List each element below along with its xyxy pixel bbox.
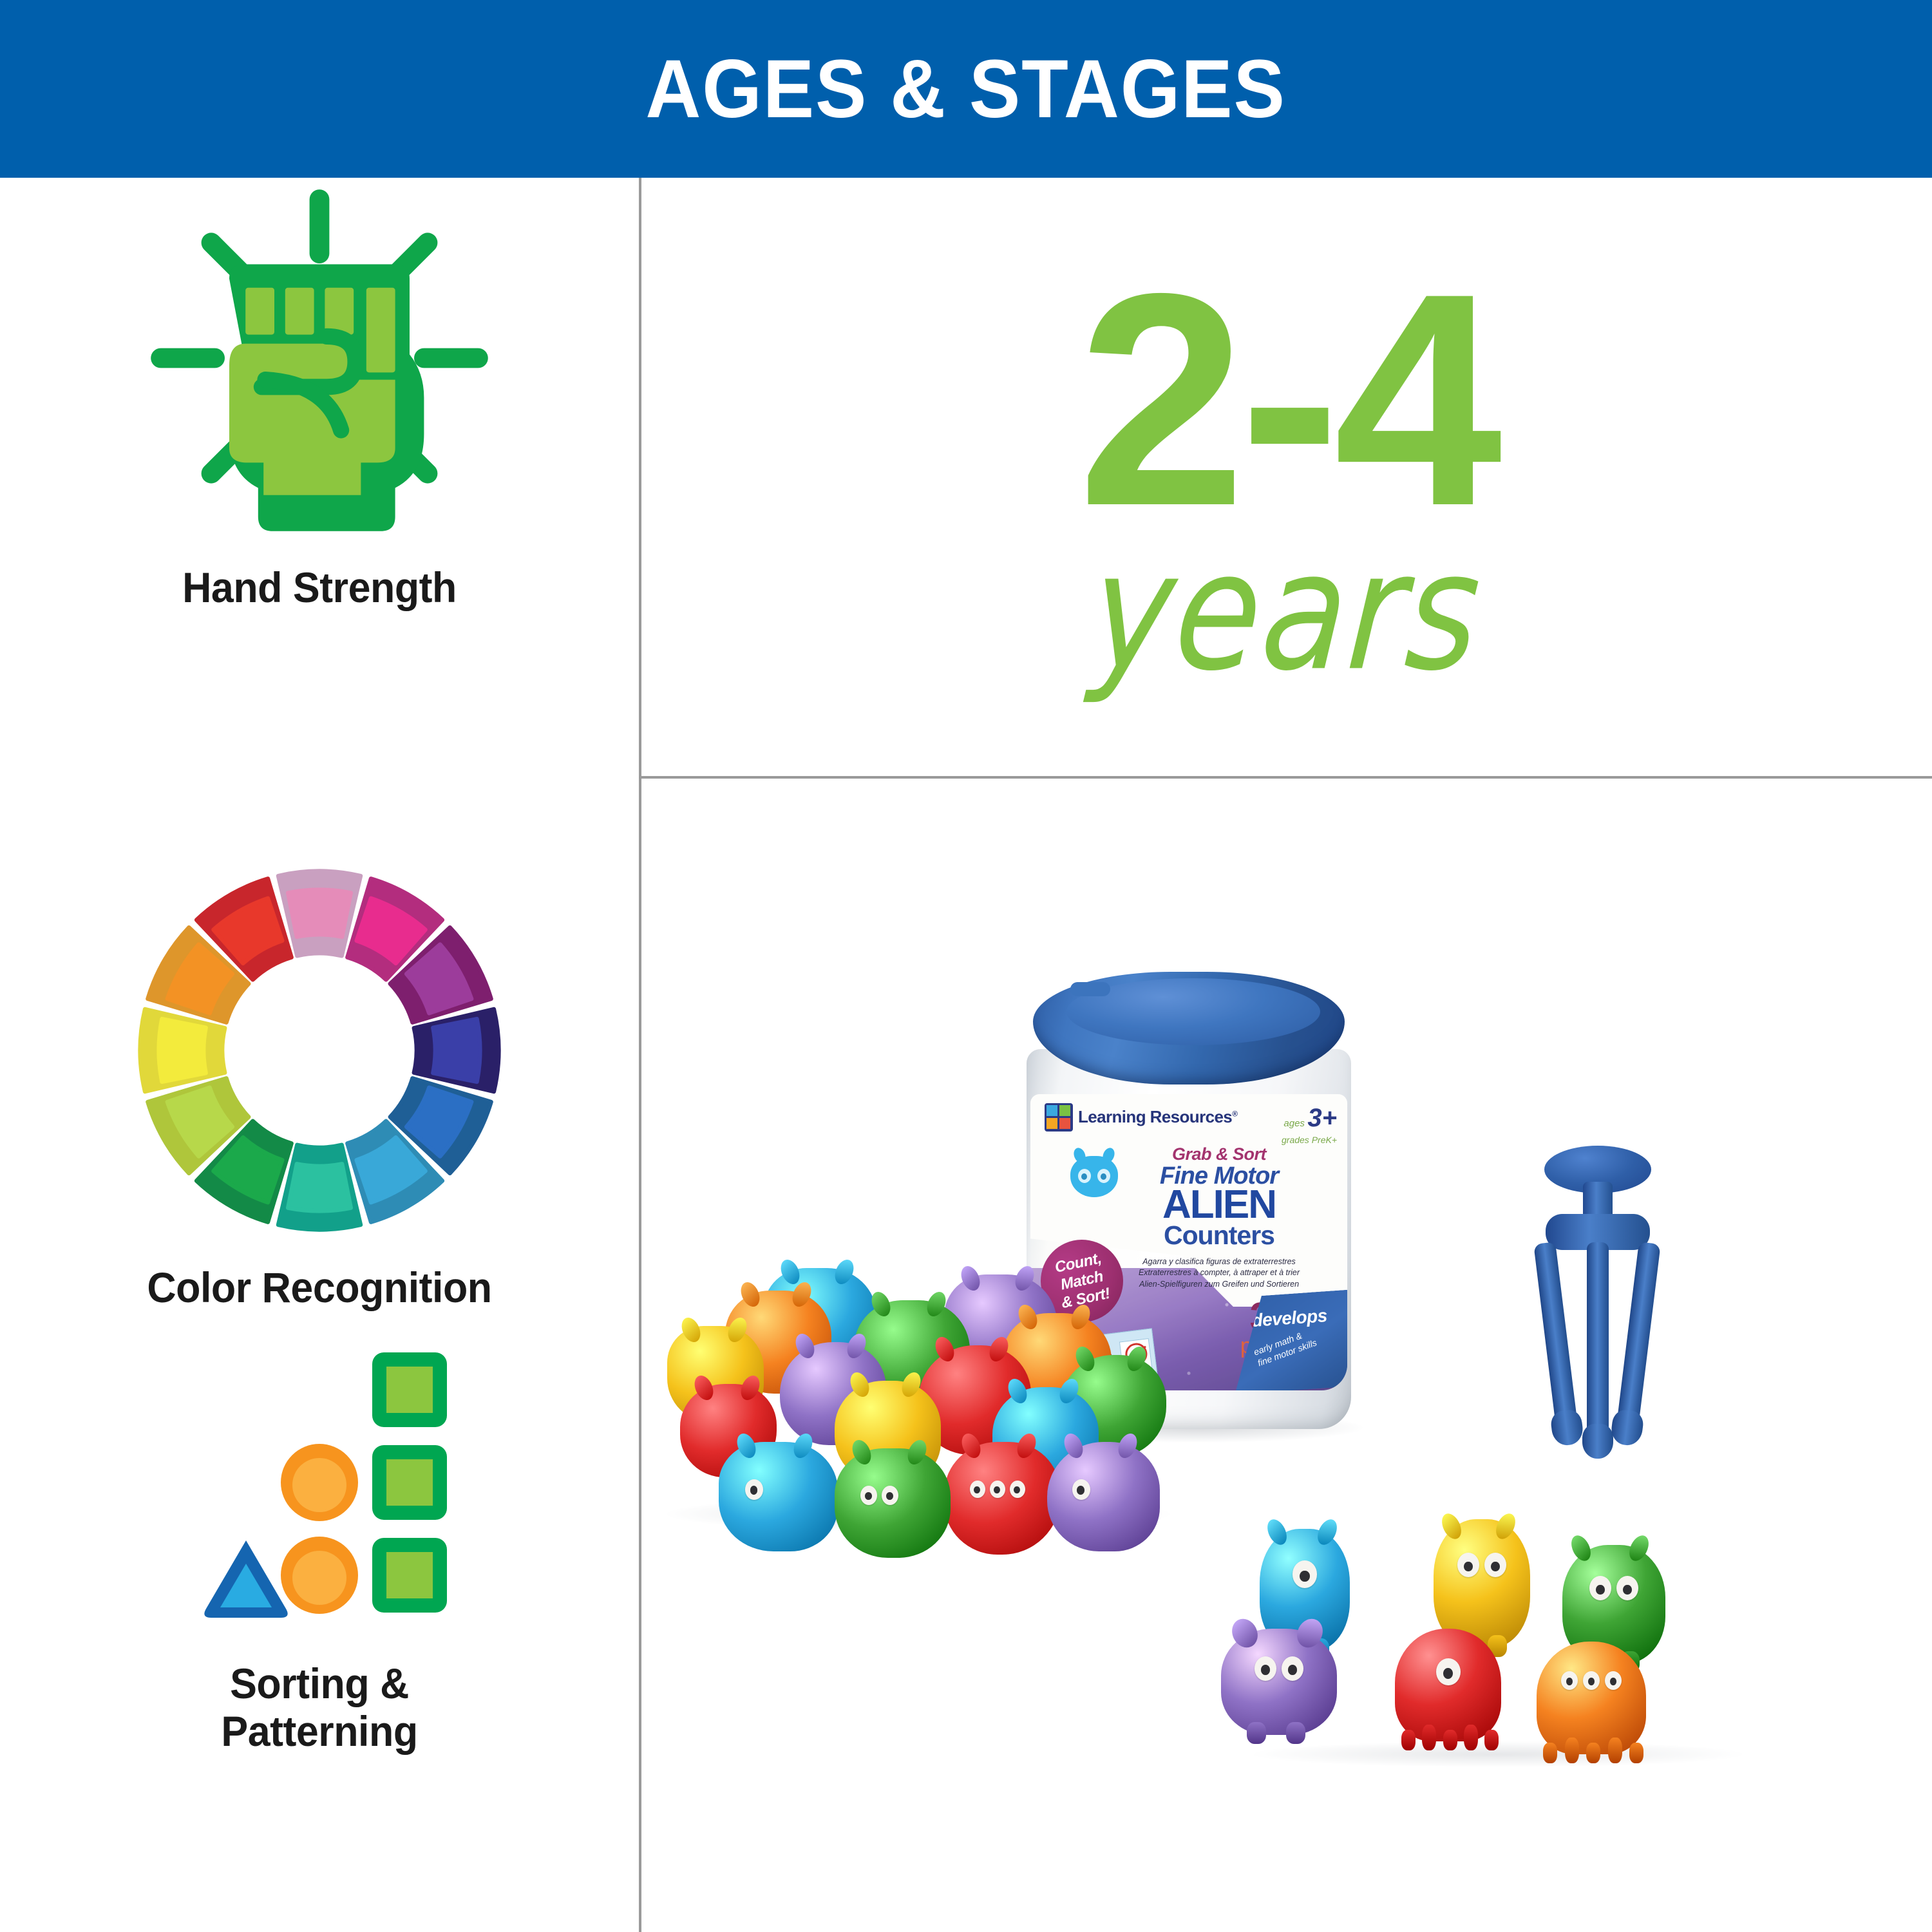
alien-counters-pile — [641, 1229, 1170, 1551]
age-range-unit: years — [1087, 529, 1486, 693]
brand-name: Learning Resources® — [1078, 1109, 1237, 1125]
alien-counter-tentacle — [1608, 1738, 1622, 1763]
skill-hand-strength: Hand Strength — [0, 178, 639, 612]
alien-counter-eye — [1583, 1671, 1600, 1690]
alien-counter — [1395, 1629, 1501, 1741]
brand-logo: Learning Resources® — [1045, 1103, 1237, 1132]
color-wheel-segment-inner — [288, 890, 351, 937]
tweezers-prong — [1587, 1242, 1609, 1455]
alien-counter-tentacle — [1629, 1743, 1643, 1763]
brand-cube-icon — [1045, 1103, 1073, 1132]
alien-counter-eye — [1010, 1481, 1025, 1499]
alien-counter — [835, 1448, 951, 1558]
alien-counter-eye — [990, 1481, 1005, 1499]
label-eyebrow: Grab & Sort — [1113, 1144, 1325, 1164]
gripper-tweezers — [1524, 1146, 1672, 1448]
shapes-sorting-graph-icon — [0, 1350, 639, 1633]
alien-counter — [944, 1442, 1060, 1555]
ages-label: ages — [1283, 1118, 1305, 1129]
alien-counter-foot — [1247, 1722, 1266, 1744]
ages-value: 3+ — [1307, 1104, 1337, 1132]
alien-counter-eye — [1616, 1576, 1638, 1600]
alien-counter-eye — [860, 1486, 877, 1505]
age-range-panel: 2-4 years — [641, 180, 1932, 776]
alien-counter-tentacle — [1484, 1730, 1499, 1750]
skill-label: Hand Strength — [16, 564, 623, 612]
skill-label-line-1: Sorting & — [230, 1660, 409, 1707]
alien-counter — [1221, 1629, 1337, 1735]
alien-counter-tentacle — [1422, 1725, 1436, 1750]
alien-head-icon — [1070, 1156, 1118, 1197]
alien-counter-eye — [1484, 1553, 1506, 1577]
alien-counter-eye — [1282, 1656, 1303, 1681]
header-banner: AGES & STAGES — [0, 0, 1932, 178]
page-title: AGES & STAGES — [646, 42, 1286, 137]
color-wheel-icon — [0, 864, 639, 1237]
alien-counter — [1047, 1442, 1160, 1551]
color-wheel-segment-inner — [288, 1164, 351, 1211]
jar-lid-hinge — [1070, 982, 1110, 996]
product-photo-panel: Learning Resources® ages 3+ grades PreK+… — [641, 779, 1932, 1932]
skill-label: Color Recognition — [16, 1264, 623, 1312]
jar-lid — [1033, 972, 1345, 1084]
skill-sorting-patterning: Sorting & Patterning — [0, 1350, 639, 1756]
alien-counter-tentacle — [1565, 1738, 1579, 1763]
grades-value: grades PreK+ — [1282, 1135, 1337, 1145]
alien-counter-eye — [1293, 1560, 1317, 1588]
ages-and-stages-infographic: AGES & STAGES — [0, 0, 1932, 1932]
alien-counter-eye — [1457, 1553, 1479, 1577]
skills-column: Hand Strength Color Recognition — [0, 178, 639, 1932]
alien-counter-tentacle — [1543, 1743, 1557, 1763]
skill-color-recognition: Color Recognition — [0, 864, 639, 1312]
skill-label-line-2: Patterning — [221, 1707, 417, 1755]
alien-counter-eye — [1436, 1658, 1461, 1686]
flexing-fist-icon — [0, 178, 639, 538]
alien-counter-eye — [1605, 1671, 1622, 1690]
alien-counter-eye — [1255, 1656, 1276, 1681]
alien-counter-eye — [1561, 1671, 1578, 1690]
alien-counter-eye — [1589, 1576, 1611, 1600]
product-photo: Learning Resources® ages 3+ grades PreK+… — [641, 779, 1932, 1932]
alien-counter-eye — [1072, 1479, 1090, 1500]
alien-counter-tentacle — [1464, 1725, 1478, 1750]
alien-counter-eye — [882, 1486, 898, 1505]
alien-counter-eye — [745, 1479, 763, 1500]
alien-counter-tentacle — [1401, 1730, 1416, 1750]
color-wheel-segment-inner — [433, 1019, 480, 1082]
alien-counter-eye — [970, 1481, 985, 1499]
label-title-line-2: ALIEN — [1113, 1188, 1325, 1223]
alien-counter-tentacle — [1443, 1730, 1457, 1750]
age-range-value: 2-4 — [1077, 276, 1495, 524]
color-wheel-segment-inner — [159, 1019, 206, 1082]
alien-counter-foot — [1286, 1722, 1305, 1744]
skill-label: Sorting & Patterning — [16, 1660, 623, 1756]
tweezers-prong — [1615, 1242, 1661, 1443]
alien-counter-tentacle — [1586, 1743, 1600, 1763]
alien-counter — [719, 1442, 838, 1551]
label-ages-grades: ages 3+ grades PreK+ — [1282, 1104, 1337, 1145]
alien-counter — [1537, 1642, 1646, 1754]
tweezers-prong — [1533, 1242, 1580, 1443]
